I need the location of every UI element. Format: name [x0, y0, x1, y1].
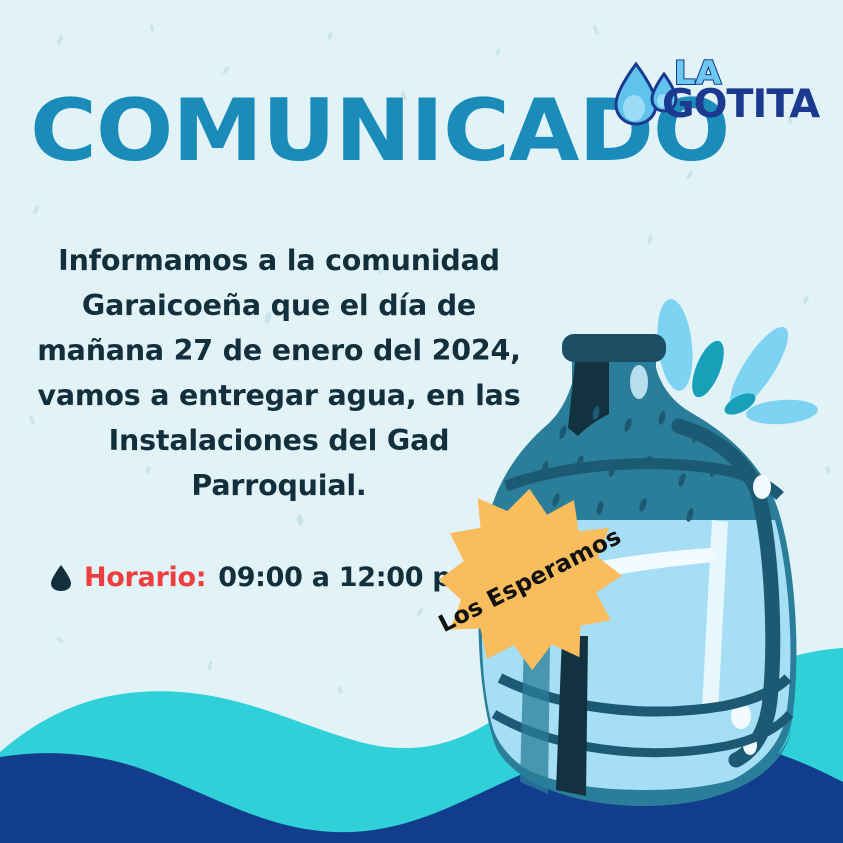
schedule-label: Horario:: [84, 562, 206, 593]
logo-word-gotita: GOTITA: [662, 82, 819, 127]
jug-cap: [562, 334, 666, 362]
announcement-text: Informamos a la comunidad Garaicoeña que…: [36, 238, 522, 508]
status-badge: Los Esperamos: [437, 487, 622, 672]
brand-logo: LA GOTITA: [612, 56, 802, 136]
water-drop-icon: [50, 564, 72, 592]
poster-canvas: COMUNICADO LA GOTITA Informamos a la com…: [0, 0, 843, 843]
schedule-line: Horario: 09:00 a 12:00 pm: [50, 562, 479, 593]
